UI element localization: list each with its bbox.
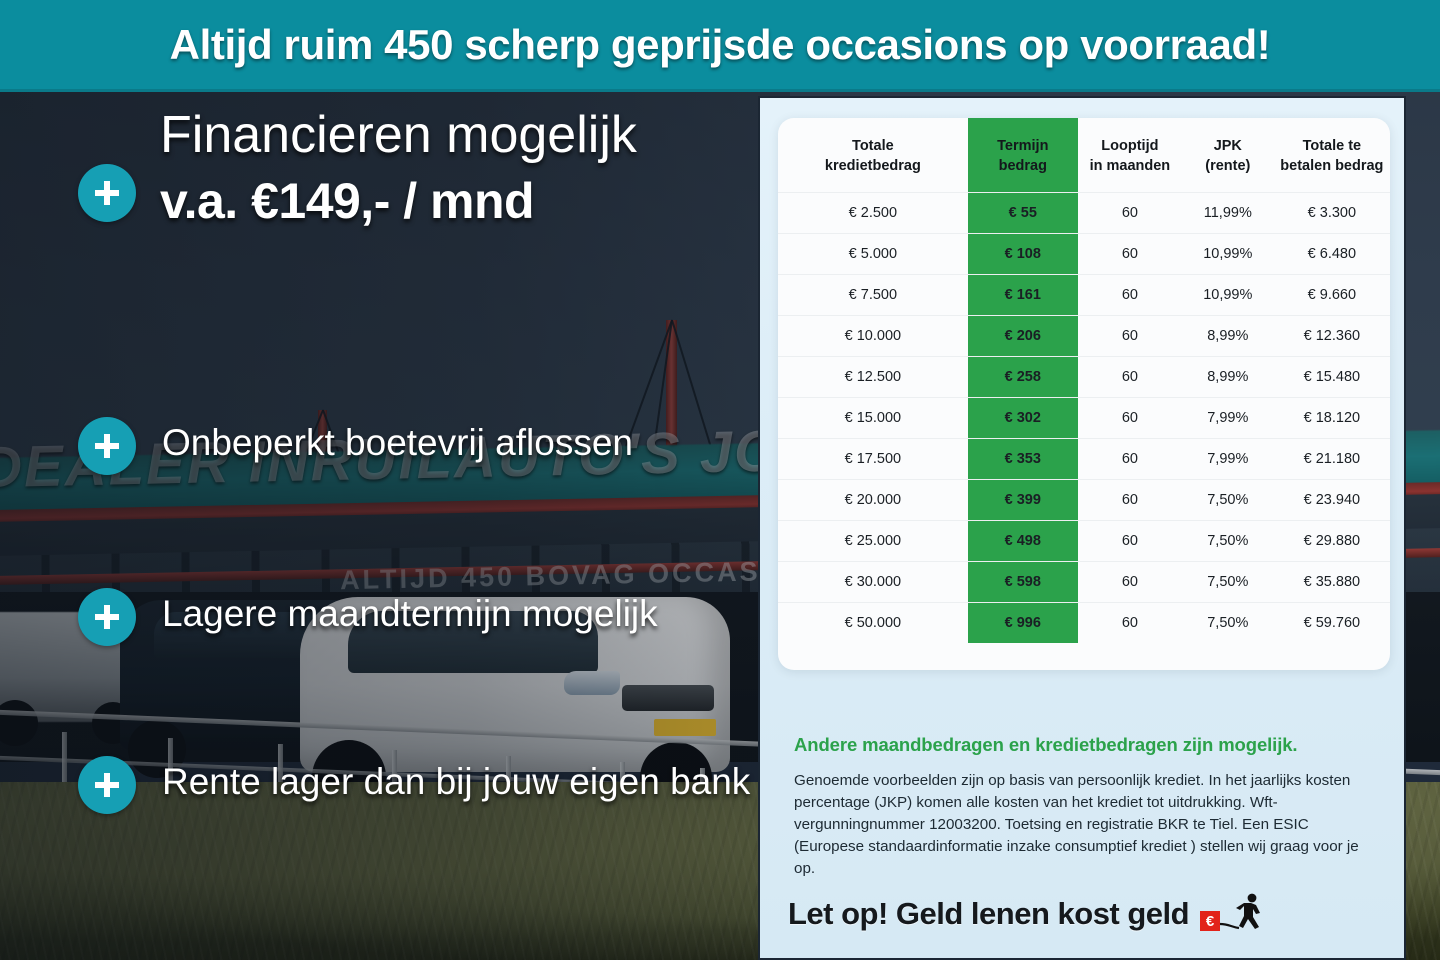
legal-warning-text: Let op! Geld lenen kost geld [788, 896, 1189, 932]
cell-looptijd: 60 [1078, 316, 1182, 357]
cell-krediet: € 2.500 [778, 193, 968, 234]
header-line-2: bedrag [999, 158, 1047, 174]
table-row: € 20.000€ 399607,50%€ 23.940 [778, 480, 1390, 521]
benefit-item-3: Rente lager dan bij jouw eigen bank [162, 761, 750, 803]
plus-icon [78, 588, 136, 646]
column-header-termijn: Termijn bedrag [968, 118, 1078, 193]
cell-jkp: 7,99% [1182, 439, 1274, 480]
plus-icon [78, 164, 136, 222]
cell-krediet: € 30.000 [778, 562, 968, 603]
cell-jkp: 7,99% [1182, 398, 1274, 439]
cell-termijn: € 55 [968, 193, 1078, 234]
cell-totaal: € 6.480 [1274, 234, 1390, 275]
note-body: Genoemde voorbeelden zijn op basis van p… [794, 770, 1364, 880]
cell-totaal: € 35.880 [1274, 562, 1390, 603]
cell-jkp: 7,50% [1182, 562, 1274, 603]
cell-looptijd: 60 [1078, 398, 1182, 439]
promo-banner: Altijd ruim 450 scherp geprijsde occasio… [0, 0, 1440, 92]
table-row: € 30.000€ 598607,50%€ 35.880 [778, 562, 1390, 603]
svg-text:€: € [1206, 913, 1215, 930]
column-header-totaal: Totale te betalen bedrag [1274, 118, 1390, 193]
financing-table-body: € 2.500€ 556011,99%€ 3.300€ 5.000€ 10860… [778, 193, 1390, 644]
cell-krediet: € 12.500 [778, 357, 968, 398]
header-line-2: betalen bedrag [1280, 158, 1383, 174]
financing-table-card: Totale kredietbedrag Termijn bedrag Loop… [778, 118, 1390, 670]
header-line-1: Termijn [997, 138, 1048, 154]
header-line-2: kredietbedrag [825, 158, 921, 174]
plus-icon [78, 756, 136, 814]
cell-termijn: € 258 [968, 357, 1078, 398]
plus-icon [78, 417, 136, 475]
cell-looptijd: 60 [1078, 439, 1182, 480]
cell-termijn: € 353 [968, 439, 1078, 480]
cell-jkp: 7,50% [1182, 603, 1274, 644]
table-row: € 17.500€ 353607,99%€ 21.180 [778, 439, 1390, 480]
cell-totaal: € 23.940 [1274, 480, 1390, 521]
table-row: € 15.000€ 302607,99%€ 18.120 [778, 398, 1390, 439]
benefit-item-2: Lagere maandtermijn mogelijk [162, 593, 658, 635]
geld-lenen-kost-geld-icon: € [1199, 893, 1271, 935]
column-header-jkp: JPK (rente) [1182, 118, 1274, 193]
table-row: € 50.000€ 996607,50%€ 59.760 [778, 603, 1390, 644]
financing-table: Totale kredietbedrag Termijn bedrag Loop… [778, 118, 1390, 643]
cell-totaal: € 18.120 [1274, 398, 1390, 439]
financing-panel: Totale kredietbedrag Termijn bedrag Loop… [758, 96, 1406, 960]
headline-line-1: Financieren mogelijk [160, 106, 637, 164]
cell-looptijd: 60 [1078, 562, 1182, 603]
cell-krediet: € 15.000 [778, 398, 968, 439]
cell-looptijd: 60 [1078, 275, 1182, 316]
header-line-2: (rente) [1205, 158, 1250, 174]
cell-looptijd: 60 [1078, 193, 1182, 234]
table-row: € 10.000€ 206608,99%€ 12.360 [778, 316, 1390, 357]
cell-krediet: € 50.000 [778, 603, 968, 644]
headline-line-2: v.a. €149,- / mnd [160, 175, 760, 228]
table-row: € 5.000€ 1086010,99%€ 6.480 [778, 234, 1390, 275]
cell-termijn: € 206 [968, 316, 1078, 357]
cell-termijn: € 302 [968, 398, 1078, 439]
cell-termijn: € 108 [968, 234, 1078, 275]
table-row: € 25.000€ 498607,50%€ 29.880 [778, 521, 1390, 562]
cell-looptijd: 60 [1078, 521, 1182, 562]
cell-jkp: 7,50% [1182, 521, 1274, 562]
header-line-2: in maanden [1090, 158, 1171, 174]
table-row: € 2.500€ 556011,99%€ 3.300 [778, 193, 1390, 234]
table-header-row: Totale kredietbedrag Termijn bedrag Loop… [778, 118, 1390, 193]
cell-jkp: 7,50% [1182, 480, 1274, 521]
cell-krediet: € 20.000 [778, 480, 968, 521]
benefit-item-1: Onbeperkt boetevrij aflossen [162, 422, 633, 464]
cell-looptijd: 60 [1078, 357, 1182, 398]
header-line-1: Totale te [1303, 138, 1362, 154]
cell-termijn: € 598 [968, 562, 1078, 603]
left-content-column: Financieren mogelijk v.a. €149,- / mnd O… [0, 92, 790, 960]
cell-looptijd: 60 [1078, 234, 1182, 275]
cell-krediet: € 17.500 [778, 439, 968, 480]
cell-jkp: 11,99% [1182, 193, 1274, 234]
header-line-1: JPK [1214, 138, 1242, 154]
cell-krediet: € 5.000 [778, 234, 968, 275]
cell-termijn: € 161 [968, 275, 1078, 316]
cell-totaal: € 59.760 [1274, 603, 1390, 644]
legal-warning: Let op! Geld lenen kost geld € [788, 893, 1388, 935]
header-line-1: Looptijd [1101, 138, 1158, 154]
cell-totaal: € 9.660 [1274, 275, 1390, 316]
column-header-looptijd: Looptijd in maanden [1078, 118, 1182, 193]
page-title: Financieren mogelijk v.a. €149,- / mnd [160, 108, 760, 228]
column-header-krediet: Totale kredietbedrag [778, 118, 968, 193]
cell-totaal: € 29.880 [1274, 521, 1390, 562]
cell-termijn: € 399 [968, 480, 1078, 521]
cell-totaal: € 21.180 [1274, 439, 1390, 480]
cell-termijn: € 498 [968, 521, 1078, 562]
note-title: Andere maandbedragen en kredietbedragen … [794, 734, 1374, 756]
cell-jkp: 8,99% [1182, 316, 1274, 357]
table-row: € 7.500€ 1616010,99%€ 9.660 [778, 275, 1390, 316]
cell-totaal: € 15.480 [1274, 357, 1390, 398]
cell-krediet: € 10.000 [778, 316, 968, 357]
cell-jkp: 8,99% [1182, 357, 1274, 398]
cell-jkp: 10,99% [1182, 234, 1274, 275]
cell-looptijd: 60 [1078, 480, 1182, 521]
cell-termijn: € 996 [968, 603, 1078, 644]
table-row: € 12.500€ 258608,99%€ 15.480 [778, 357, 1390, 398]
promo-banner-text: Altijd ruim 450 scherp geprijsde occasio… [170, 21, 1271, 69]
cell-krediet: € 25.000 [778, 521, 968, 562]
cell-looptijd: 60 [1078, 603, 1182, 644]
cell-totaal: € 3.300 [1274, 193, 1390, 234]
cell-jkp: 10,99% [1182, 275, 1274, 316]
header-line-1: Totale [852, 138, 894, 154]
cell-krediet: € 7.500 [778, 275, 968, 316]
cell-totaal: € 12.360 [1274, 316, 1390, 357]
